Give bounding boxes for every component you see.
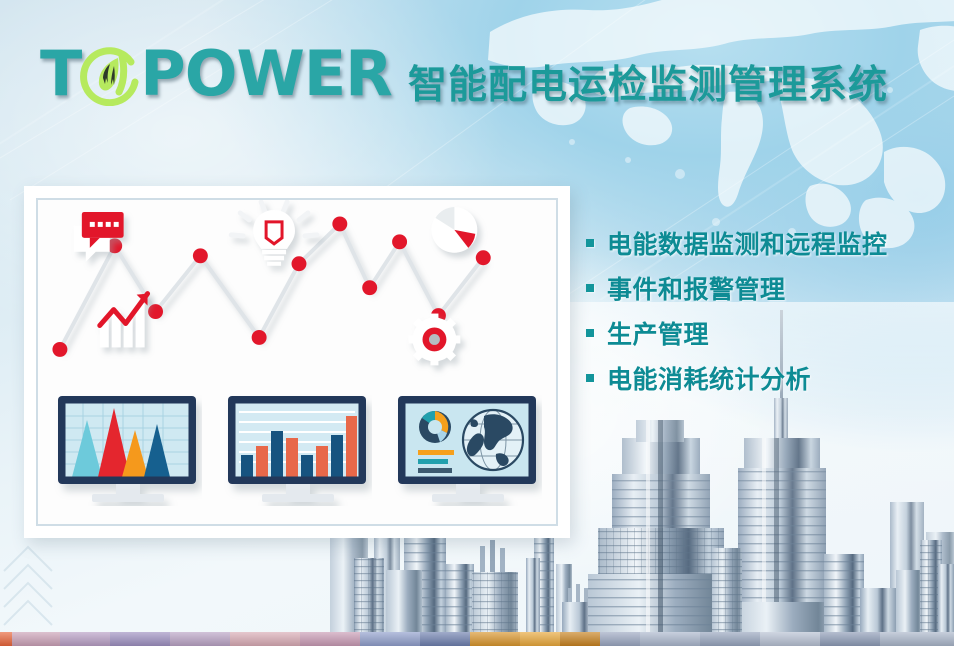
list-item[interactable]: 电能数据监测和远程监控	[586, 228, 946, 258]
monitor-2	[222, 394, 372, 506]
gear-icon	[409, 314, 461, 366]
feature-list: 电能数据监测和远程监控 事件和报警管理 生产管理 电能消耗统计分析	[586, 228, 946, 408]
feature-label: 事件和报警管理	[607, 270, 786, 306]
illustration-panel	[24, 186, 570, 538]
monitor-1	[52, 394, 202, 506]
brand-logo[interactable]: T POWER	[40, 38, 392, 110]
feature-label: 电能消耗统计分析	[607, 360, 811, 396]
logo-wordmark: POWER	[140, 43, 392, 105]
feature-label: 电能数据监测和远程监控	[607, 225, 888, 261]
pie-chart-icon	[431, 207, 477, 253]
feature-label: 生产管理	[607, 315, 709, 351]
bottom-photo-strip	[0, 632, 954, 646]
bullet-square-icon	[586, 329, 594, 337]
bullet-square-icon	[586, 284, 594, 292]
poster-stage: T POWER 智能配电运检监测管理系统	[0, 0, 954, 646]
page-title: 智能配电运检监测管理系统	[408, 54, 888, 110]
illustration-frame	[36, 198, 558, 526]
chat-bubble-icon	[74, 212, 124, 262]
globe-icon	[463, 410, 523, 470]
monitor-3	[392, 394, 542, 506]
donut-chart	[419, 411, 451, 443]
logo-letter-t: T	[40, 43, 81, 105]
list-item[interactable]: 电能消耗统计分析	[586, 363, 946, 393]
monitor-row	[52, 388, 542, 506]
list-item[interactable]: 生产管理	[586, 318, 946, 348]
bar-trend-icon	[100, 294, 148, 348]
bullet-square-icon	[586, 239, 594, 247]
bullet-square-icon	[586, 374, 594, 382]
leaf-in-circle-icon	[78, 42, 142, 106]
chevron-watermark-icon	[2, 545, 72, 635]
header: T POWER 智能配电运检监测管理系统	[0, 0, 954, 130]
list-item[interactable]: 事件和报警管理	[586, 273, 946, 303]
